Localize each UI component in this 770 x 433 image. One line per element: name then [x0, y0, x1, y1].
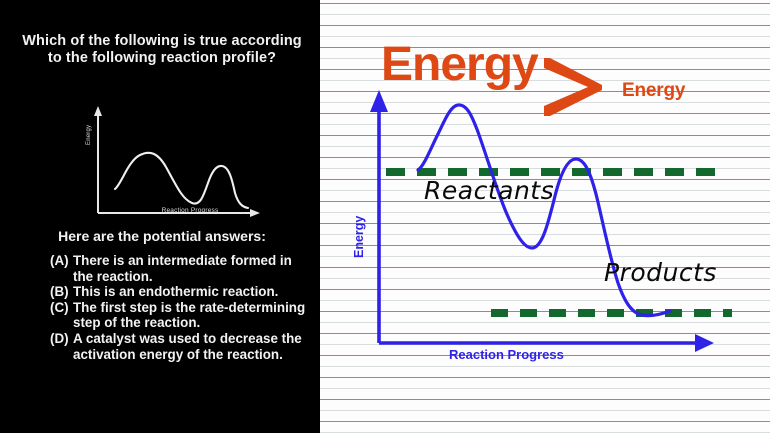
mini-chart-x-axis-label: Reaction Progress: [120, 207, 260, 214]
slide-canvas: Which of the following is true according…: [0, 0, 770, 433]
mini-chart-y-axis-label: Energy: [86, 105, 92, 145]
answers-heading: Here are the potential answers:: [16, 228, 308, 244]
reactants-label: Reactants: [424, 176, 554, 205]
chart-x-axis-label: Reaction Progress: [449, 347, 564, 362]
answer-option-a[interactable]: (A) There is an intermediate formed in t…: [50, 253, 312, 284]
answer-option-c[interactable]: (C) The first step is the rate-determini…: [50, 300, 312, 331]
answer-text-b: This is an endothermic reaction.: [73, 284, 312, 300]
answer-text-c: The first step is the rate-determining s…: [73, 300, 312, 331]
products-label: Products: [604, 258, 717, 287]
chart-y-axis-label: Energy: [352, 216, 366, 258]
answer-options-list: (A) There is an intermediate formed in t…: [50, 253, 312, 362]
answer-key-b: (B): [50, 284, 73, 300]
answer-option-d[interactable]: (D) A catalyst was used to decrease the …: [50, 331, 312, 362]
answer-key-d: (D): [50, 331, 73, 362]
answer-option-b[interactable]: (B) This is an endothermic reaction.: [50, 284, 312, 300]
answer-text-d: A catalyst was used to decrease the acti…: [73, 331, 312, 362]
reaction-profile-chart: [320, 0, 770, 433]
question-prompt: Which of the following is true according…: [18, 33, 306, 67]
question-panel: Which of the following is true according…: [0, 0, 320, 433]
y-axis: [370, 90, 388, 343]
answer-text-a: There is an intermediate formed in the r…: [73, 253, 312, 284]
answer-key-a: (A): [50, 253, 73, 284]
answer-key-c: (C): [50, 300, 73, 331]
